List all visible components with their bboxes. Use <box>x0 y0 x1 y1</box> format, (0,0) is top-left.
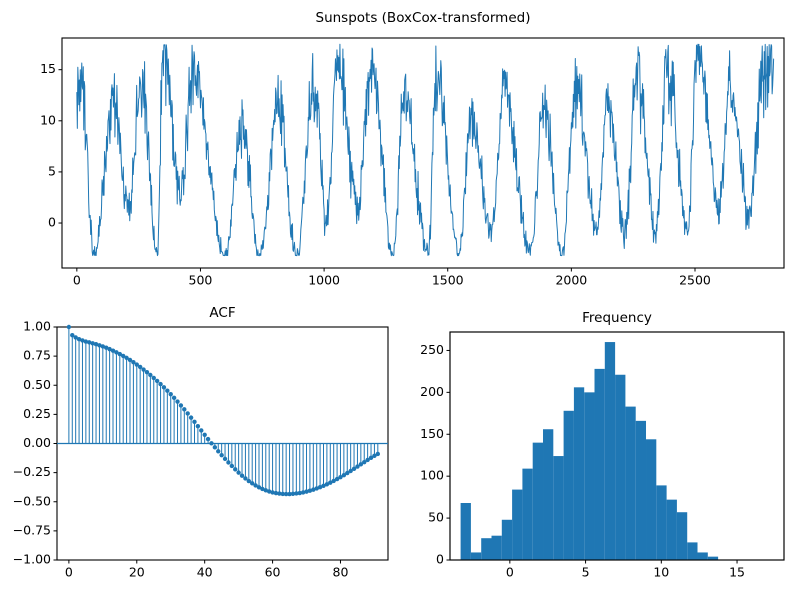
series-trace <box>77 44 774 256</box>
acf-marker <box>172 396 176 400</box>
histogram-bar <box>481 538 491 560</box>
acf-marker <box>148 373 152 377</box>
x-tick-label: 0 <box>65 565 73 580</box>
acf-marker <box>226 460 230 464</box>
acf-marker <box>145 370 149 374</box>
acf-marker <box>158 382 162 386</box>
series-plot-area: 05001000150020002500051015 <box>0 0 800 300</box>
acf-marker <box>165 389 169 393</box>
histogram-bar <box>677 512 687 560</box>
histogram-bar <box>512 490 522 560</box>
y-tick-label: 0 <box>48 215 56 230</box>
acf-plot-area: 020406080−1.00−0.75−0.50−0.250.000.250.5… <box>0 300 400 600</box>
panel-frequency-histogram: Frequency 051015050100150200250 <box>400 300 800 600</box>
histogram-plot-area: 051015050100150200250 <box>400 300 800 600</box>
histogram-title: Frequency <box>450 310 784 326</box>
y-tick-label: 150 <box>420 426 444 441</box>
histogram-bar <box>543 429 553 560</box>
acf-marker <box>223 457 227 461</box>
y-tick-label: 0.00 <box>23 435 51 450</box>
acf-marker <box>376 452 380 456</box>
acf-marker <box>179 403 183 407</box>
histogram-bar <box>471 552 481 560</box>
x-tick-label: 0 <box>506 565 514 580</box>
x-tick-label: 2000 <box>555 273 587 288</box>
y-tick-label: 10 <box>40 112 56 127</box>
y-tick-label: −1.00 <box>13 552 51 567</box>
acf-marker <box>162 385 166 389</box>
x-tick-label: 20 <box>129 565 145 580</box>
panel-acf: ACF 020406080−1.00−0.75−0.50−0.250.000.2… <box>0 300 400 600</box>
histogram-bar <box>553 456 563 560</box>
acf-marker <box>175 399 179 403</box>
histogram-bar <box>564 411 574 560</box>
histogram-bar <box>698 552 708 560</box>
histogram-bar <box>502 520 512 560</box>
y-tick-label: 50 <box>428 510 444 525</box>
y-tick-label: 0.25 <box>23 406 51 421</box>
y-tick-label: −0.25 <box>13 464 51 479</box>
acf-marker <box>189 415 193 419</box>
acf-marker <box>209 441 213 445</box>
acf-marker <box>67 325 71 329</box>
y-tick-label: 250 <box>420 342 444 357</box>
histogram-bar <box>533 443 543 560</box>
y-tick-label: 0.50 <box>23 377 51 392</box>
histogram-bar <box>625 407 635 560</box>
x-tick-label: 40 <box>197 565 213 580</box>
histogram-bar <box>687 542 697 560</box>
y-tick-label: −0.75 <box>13 522 51 537</box>
acf-marker <box>206 437 210 441</box>
x-tick-label: 500 <box>189 273 213 288</box>
x-tick-label: 1500 <box>432 273 464 288</box>
acf-marker <box>199 428 203 432</box>
histogram-bar <box>667 500 677 560</box>
histogram-bars <box>461 342 719 560</box>
histogram-bar <box>636 421 646 560</box>
y-tick-label: −0.50 <box>13 493 51 508</box>
histogram-bar <box>656 485 666 560</box>
acf-marker <box>152 376 156 380</box>
acf-marker <box>169 392 173 396</box>
histogram-bar <box>492 536 502 560</box>
acf-marker <box>213 445 217 449</box>
histogram-bar <box>615 375 625 560</box>
y-tick-label: 100 <box>420 468 444 483</box>
y-tick-label: 200 <box>420 384 444 399</box>
matplotlib-figure: Sunspots (BoxCox-transformed) 0500100015… <box>0 0 800 600</box>
x-tick-label: 2500 <box>679 273 711 288</box>
x-tick-label: 60 <box>265 565 281 580</box>
acf-marker <box>192 420 196 424</box>
y-tick-label: 15 <box>40 61 56 76</box>
acf-marker <box>155 379 159 383</box>
histogram-bar <box>461 503 471 560</box>
acf-marker <box>186 411 190 415</box>
panel-sunspots-series: Sunspots (BoxCox-transformed) 0500100015… <box>0 0 800 300</box>
y-tick-label: 0.75 <box>23 348 51 363</box>
acf-title: ACF <box>57 305 388 321</box>
histogram-bar <box>646 439 656 560</box>
x-tick-label: 1000 <box>308 273 340 288</box>
x-tick-label: 0 <box>73 273 81 288</box>
acf-marker <box>236 470 240 474</box>
histogram-bar <box>605 342 615 560</box>
y-tick-label: 1.00 <box>23 319 51 334</box>
acf-marker <box>219 453 223 457</box>
x-tick-label: 80 <box>333 565 349 580</box>
histogram-bar <box>522 469 532 560</box>
histogram-bar <box>574 387 584 560</box>
acf-marker <box>230 464 234 468</box>
y-tick-label: 5 <box>48 163 56 178</box>
acf-marker <box>216 449 220 453</box>
acf-marker <box>233 467 237 471</box>
x-tick-label: 15 <box>729 565 745 580</box>
x-tick-label: 5 <box>582 565 590 580</box>
series-title: Sunspots (BoxCox-transformed) <box>62 10 784 26</box>
acf-marker <box>202 433 206 437</box>
x-tick-label: 10 <box>653 565 669 580</box>
y-tick-label: 0 <box>436 552 444 567</box>
acf-marker <box>240 473 244 477</box>
acf-markers <box>67 325 380 496</box>
acf-marker <box>196 424 200 428</box>
histogram-bar <box>584 392 594 560</box>
histogram-bar <box>595 369 605 560</box>
acf-marker <box>182 407 186 411</box>
